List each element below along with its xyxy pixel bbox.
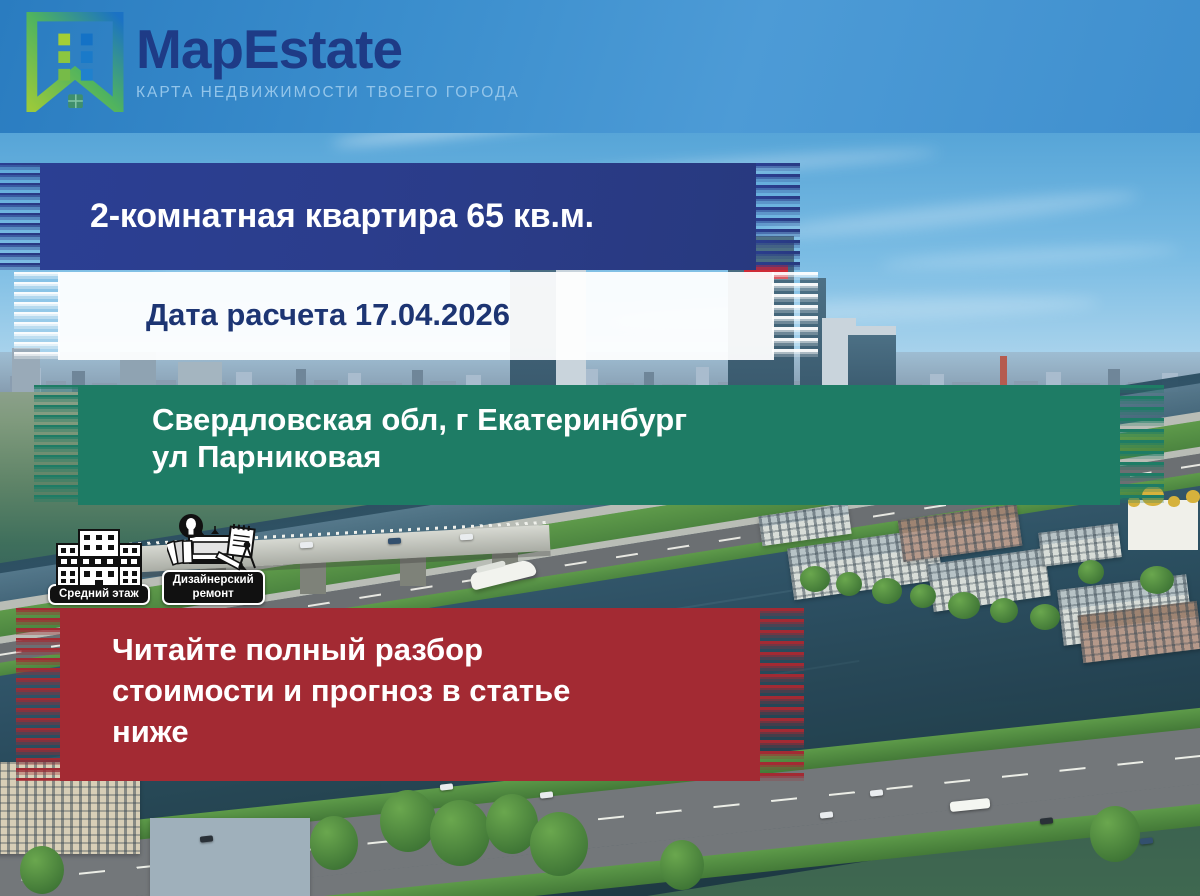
tree: [800, 566, 830, 592]
tree: [910, 584, 936, 608]
promo-card: MapEstate КАРТА НЕДВИЖИМОСТИ ТВОЕГО ГОРО…: [0, 0, 1200, 896]
car: [460, 534, 473, 541]
title-banner: 2-комнатная квартира 65 кв.м.: [40, 163, 756, 270]
badge-designer-renovation[interactable]: Дизайнерский ремонт: [162, 512, 265, 605]
tree: [872, 578, 902, 604]
property-title: 2-комнатная квартира 65 кв.м.: [40, 163, 756, 236]
brush-edge-right: [1118, 385, 1164, 505]
tree: [1090, 806, 1140, 862]
brush-edge-right: [758, 608, 804, 781]
church: [1128, 500, 1198, 550]
church-dome: [1186, 490, 1200, 503]
badge-label: Дизайнерский ремонт: [162, 570, 265, 605]
brush-edge-left: [34, 385, 80, 505]
address-line-2: ул Парниковая: [152, 439, 381, 474]
tree: [20, 846, 64, 894]
map-bookmark-building-logo-icon: [26, 12, 124, 112]
tree: [380, 790, 436, 852]
apartment-building-icon: [53, 526, 145, 588]
brand-logo[interactable]: MapEstate КАРТА НЕДВИЖИМОСТИ ТВОЕГО ГОРО…: [26, 12, 520, 112]
cta-line-1: Читайте полный разбор: [112, 632, 483, 667]
brush-edge-right: [754, 163, 800, 270]
church-dome: [1168, 496, 1180, 507]
tree: [990, 598, 1018, 623]
brand-tagline: КАРТА НЕДВИЖИМОСТИ ТВОЕГО ГОРОДА: [136, 84, 520, 102]
cta-banner: Читайте полный разборстоимости и прогноз…: [60, 608, 760, 781]
tree: [530, 812, 588, 876]
tree: [310, 816, 358, 870]
tree: [1140, 566, 1174, 594]
brush-edge-right: [772, 272, 818, 360]
date-banner: Дата расчета 17.04.2026: [58, 272, 774, 360]
tree: [948, 592, 980, 619]
tree: [1030, 604, 1060, 630]
tree: [430, 800, 490, 866]
header-bar: MapEstate КАРТА НЕДВИЖИМОСТИ ТВОЕГО ГОРО…: [0, 0, 1200, 133]
feature-badges: Средний этаж: [48, 512, 265, 605]
address-lines: Свердловская обл, г Екатеринбургул Парни…: [78, 385, 1120, 475]
bridge-pier: [300, 560, 326, 594]
office-building: [844, 326, 896, 335]
brand-name: MapEstate: [136, 22, 520, 77]
cta-line-2: стоимости и прогноз в статье: [112, 673, 570, 708]
badge-middle-floor[interactable]: Средний этаж: [48, 526, 150, 606]
address-line-1: Свердловская обл, г Екатеринбург: [152, 402, 687, 437]
tree: [660, 840, 704, 890]
calculation-date: Дата расчета 17.04.2026: [58, 272, 774, 334]
tree: [1078, 560, 1104, 584]
brush-edge-left: [14, 272, 60, 360]
car: [300, 542, 313, 549]
brush-edge-left: [0, 163, 42, 270]
brand-text: MapEstate КАРТА НЕДВИЖИМОСТИ ТВОЕГО ГОРО…: [136, 22, 520, 102]
address-banner: Свердловская обл, г Екатеринбургул Парни…: [78, 385, 1120, 505]
tree: [836, 572, 862, 596]
cta-line-3: ниже: [112, 714, 189, 749]
building: [150, 818, 310, 896]
car: [388, 538, 401, 545]
designer-renovation-icon: [167, 512, 259, 574]
brush-edge-left: [16, 608, 62, 781]
cta-lines: Читайте полный разборстоимости и прогноз…: [60, 608, 760, 753]
